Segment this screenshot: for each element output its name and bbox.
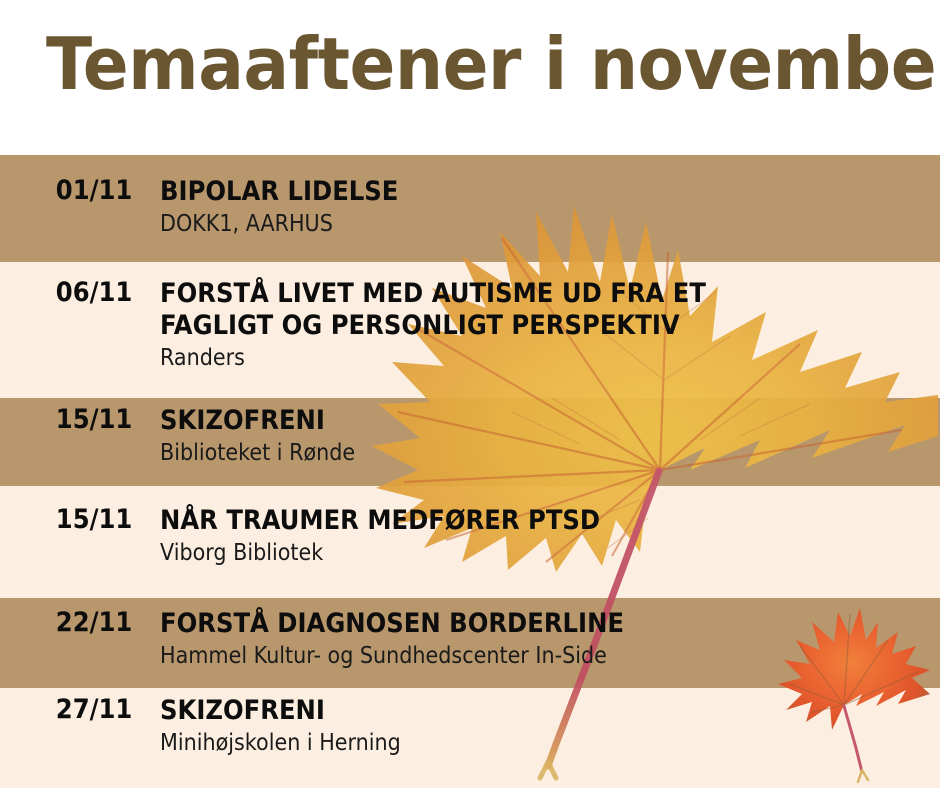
event-row: 15/11 SKIZOFRENI Biblioteket i Rønde: [0, 405, 940, 467]
event-row: 27/11 SKIZOFRENI Minihøjskolen i Herning: [0, 695, 940, 757]
event-venue: Randers: [160, 344, 862, 372]
event-info: FORSTÅ DIAGNOSEN BORDERLINE Hammel Kultu…: [160, 608, 940, 670]
event-venue: Biblioteket i Rønde: [160, 439, 862, 467]
event-info: SKIZOFRENI Biblioteket i Rønde: [160, 405, 940, 467]
event-venue: DOKK1, AARHUS: [160, 210, 862, 238]
event-row: 15/11 NÅR TRAUMER MEDFØRER PTSD Viborg B…: [0, 505, 940, 567]
event-date: 01/11: [0, 176, 144, 206]
event-venue: Viborg Bibliotek: [160, 539, 862, 567]
event-title: SKIZOFRENI: [160, 405, 862, 437]
event-date: 15/11: [0, 405, 144, 435]
event-row: 22/11 FORSTÅ DIAGNOSEN BORDERLINE Hammel…: [0, 608, 940, 670]
event-venue: Minihøjskolen i Herning: [160, 729, 862, 757]
event-date: 22/11: [0, 608, 144, 638]
event-row: 06/11 FORSTÅ LIVET MED AUTISME UD FRA ET…: [0, 278, 940, 372]
event-date: 15/11: [0, 505, 144, 535]
poster-canvas: Temaaftener i november 01/11 BIPOLAR LID…: [0, 0, 940, 788]
event-title-line2: FAGLIGT OG PERSONLIGT PERSPEKTIV: [160, 310, 862, 342]
event-info: BIPOLAR LIDELSE DOKK1, AARHUS: [160, 176, 940, 238]
header-bar: Temaaftener i november: [0, 0, 940, 155]
event-title: NÅR TRAUMER MEDFØRER PTSD: [160, 505, 862, 537]
page-title: Temaaftener i november: [46, 24, 854, 104]
event-info: NÅR TRAUMER MEDFØRER PTSD Viborg Bibliot…: [160, 505, 940, 567]
event-info: FORSTÅ LIVET MED AUTISME UD FRA ET FAGLI…: [160, 278, 940, 372]
event-row: 01/11 BIPOLAR LIDELSE DOKK1, AARHUS: [0, 176, 940, 238]
event-title: FORSTÅ DIAGNOSEN BORDERLINE: [160, 608, 862, 640]
event-date: 06/11: [0, 278, 144, 308]
event-title: BIPOLAR LIDELSE: [160, 176, 862, 208]
event-venue: Hammel Kultur- og Sundhedscenter In-Side: [160, 642, 862, 670]
event-title: SKIZOFRENI: [160, 695, 862, 727]
event-title: FORSTÅ LIVET MED AUTISME UD FRA ET: [160, 278, 862, 310]
event-info: SKIZOFRENI Minihøjskolen i Herning: [160, 695, 940, 757]
event-date: 27/11: [0, 695, 144, 725]
